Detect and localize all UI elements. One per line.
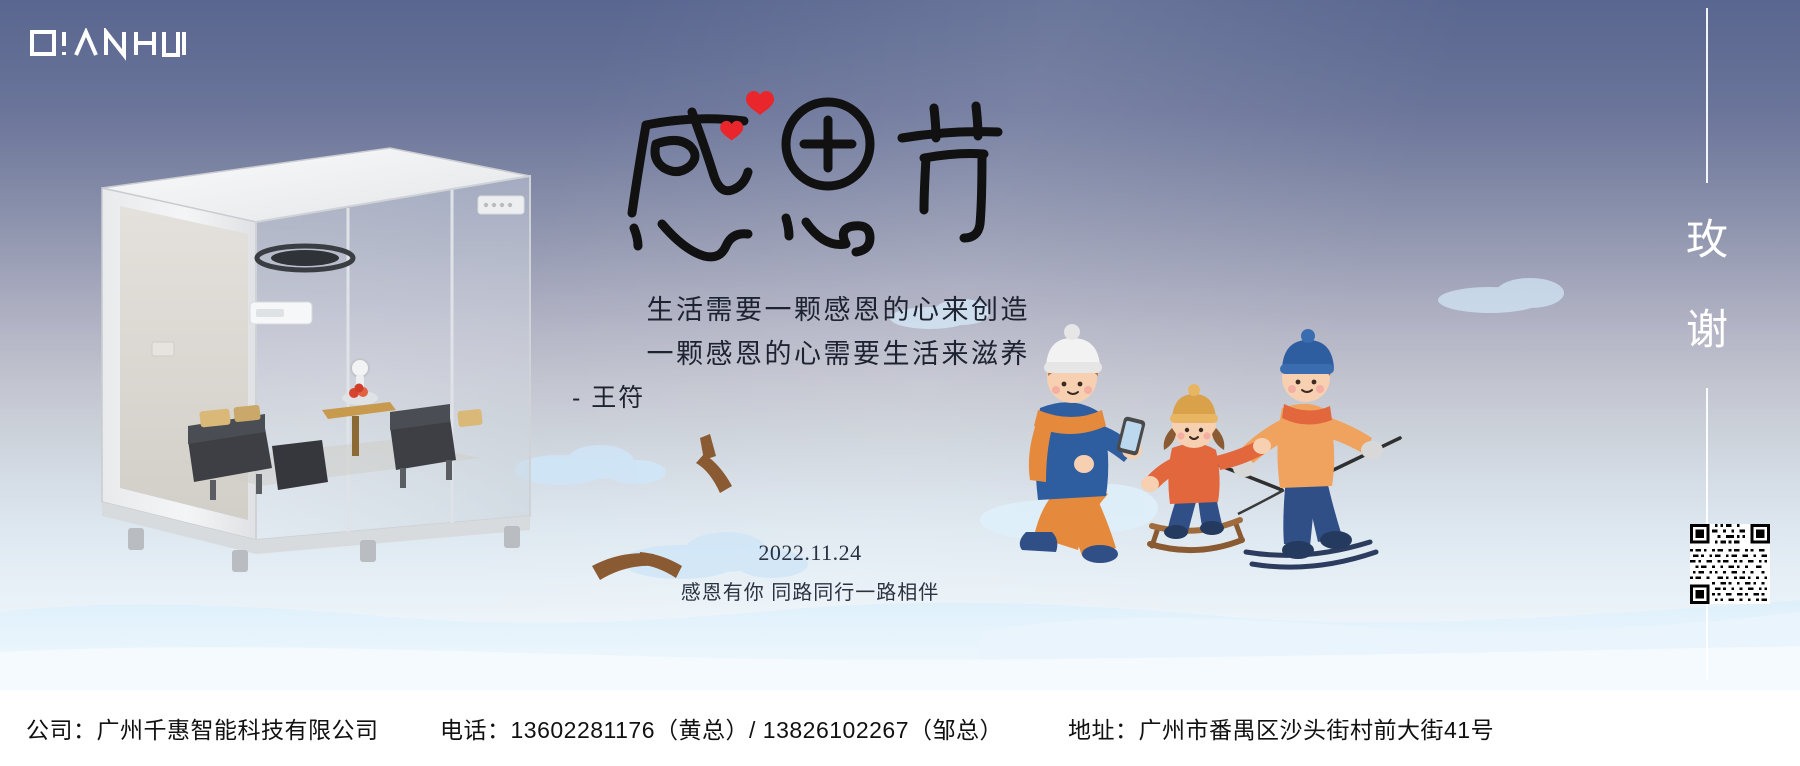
qr-code-image [1690,524,1770,604]
banner-background: 生活需要一颗感恩的心来创造 一颗感恩的心需要生活来滋养 - 王符 2022.11… [0,0,1800,690]
vertical-thanks-char-1: 玫 [1632,196,1782,286]
child-on-sled-figure [1141,384,1284,550]
event-date: 2022.11.24 [600,540,1020,566]
footer-address: 地址：广州市番禺区沙头街村前大街41号 [1068,711,1494,745]
quote-attribution: - 王符 [560,376,1030,420]
brand-logo [28,28,188,62]
footer-bar: 公司：广州千惠智能科技有限公司 电话：13602281176（黄总）/ 1382… [0,690,1800,766]
skier-figure [1196,329,1400,567]
thanksgiving-title-calligraphy [600,82,1020,262]
vertical-thanks-text: 玫 谢 [1632,196,1782,376]
qianhui-logotype [28,28,188,62]
page-title [600,82,1020,262]
banner-page: 生活需要一颗感恩的心来创造 一颗感恩的心需要生活来滋养 - 王符 2022.11… [0,0,1800,766]
winter-family-illustration [1000,300,1480,600]
quote-line-2: 一颗感恩的心需要生活来滋养 [560,332,1030,376]
vertical-thanks-char-2: 谢 [1632,286,1782,376]
quote-block: 生活需要一颗感恩的心来创造 一颗感恩的心需要生活来滋养 - 王符 [560,288,1030,420]
event-info: 2022.11.24 感恩有你 同路同行一路相伴 [600,540,1020,605]
qr-code[interactable] [1690,524,1770,604]
event-subtitle: 感恩有你 同路同行一路相伴 [600,576,1020,605]
footer-phone: 电话：13602281176（黄总）/ 13826102267（邹总） [440,711,1003,745]
quote-line-1: 生活需要一颗感恩的心来创造 [560,288,1030,332]
vertical-divider-top [1706,8,1708,183]
modular-office-pod-illustration [60,110,560,580]
photographer-figure [1020,324,1146,563]
office-pod-image [60,110,560,580]
footer-company: 公司：广州千惠智能科技有限公司 [26,711,379,745]
